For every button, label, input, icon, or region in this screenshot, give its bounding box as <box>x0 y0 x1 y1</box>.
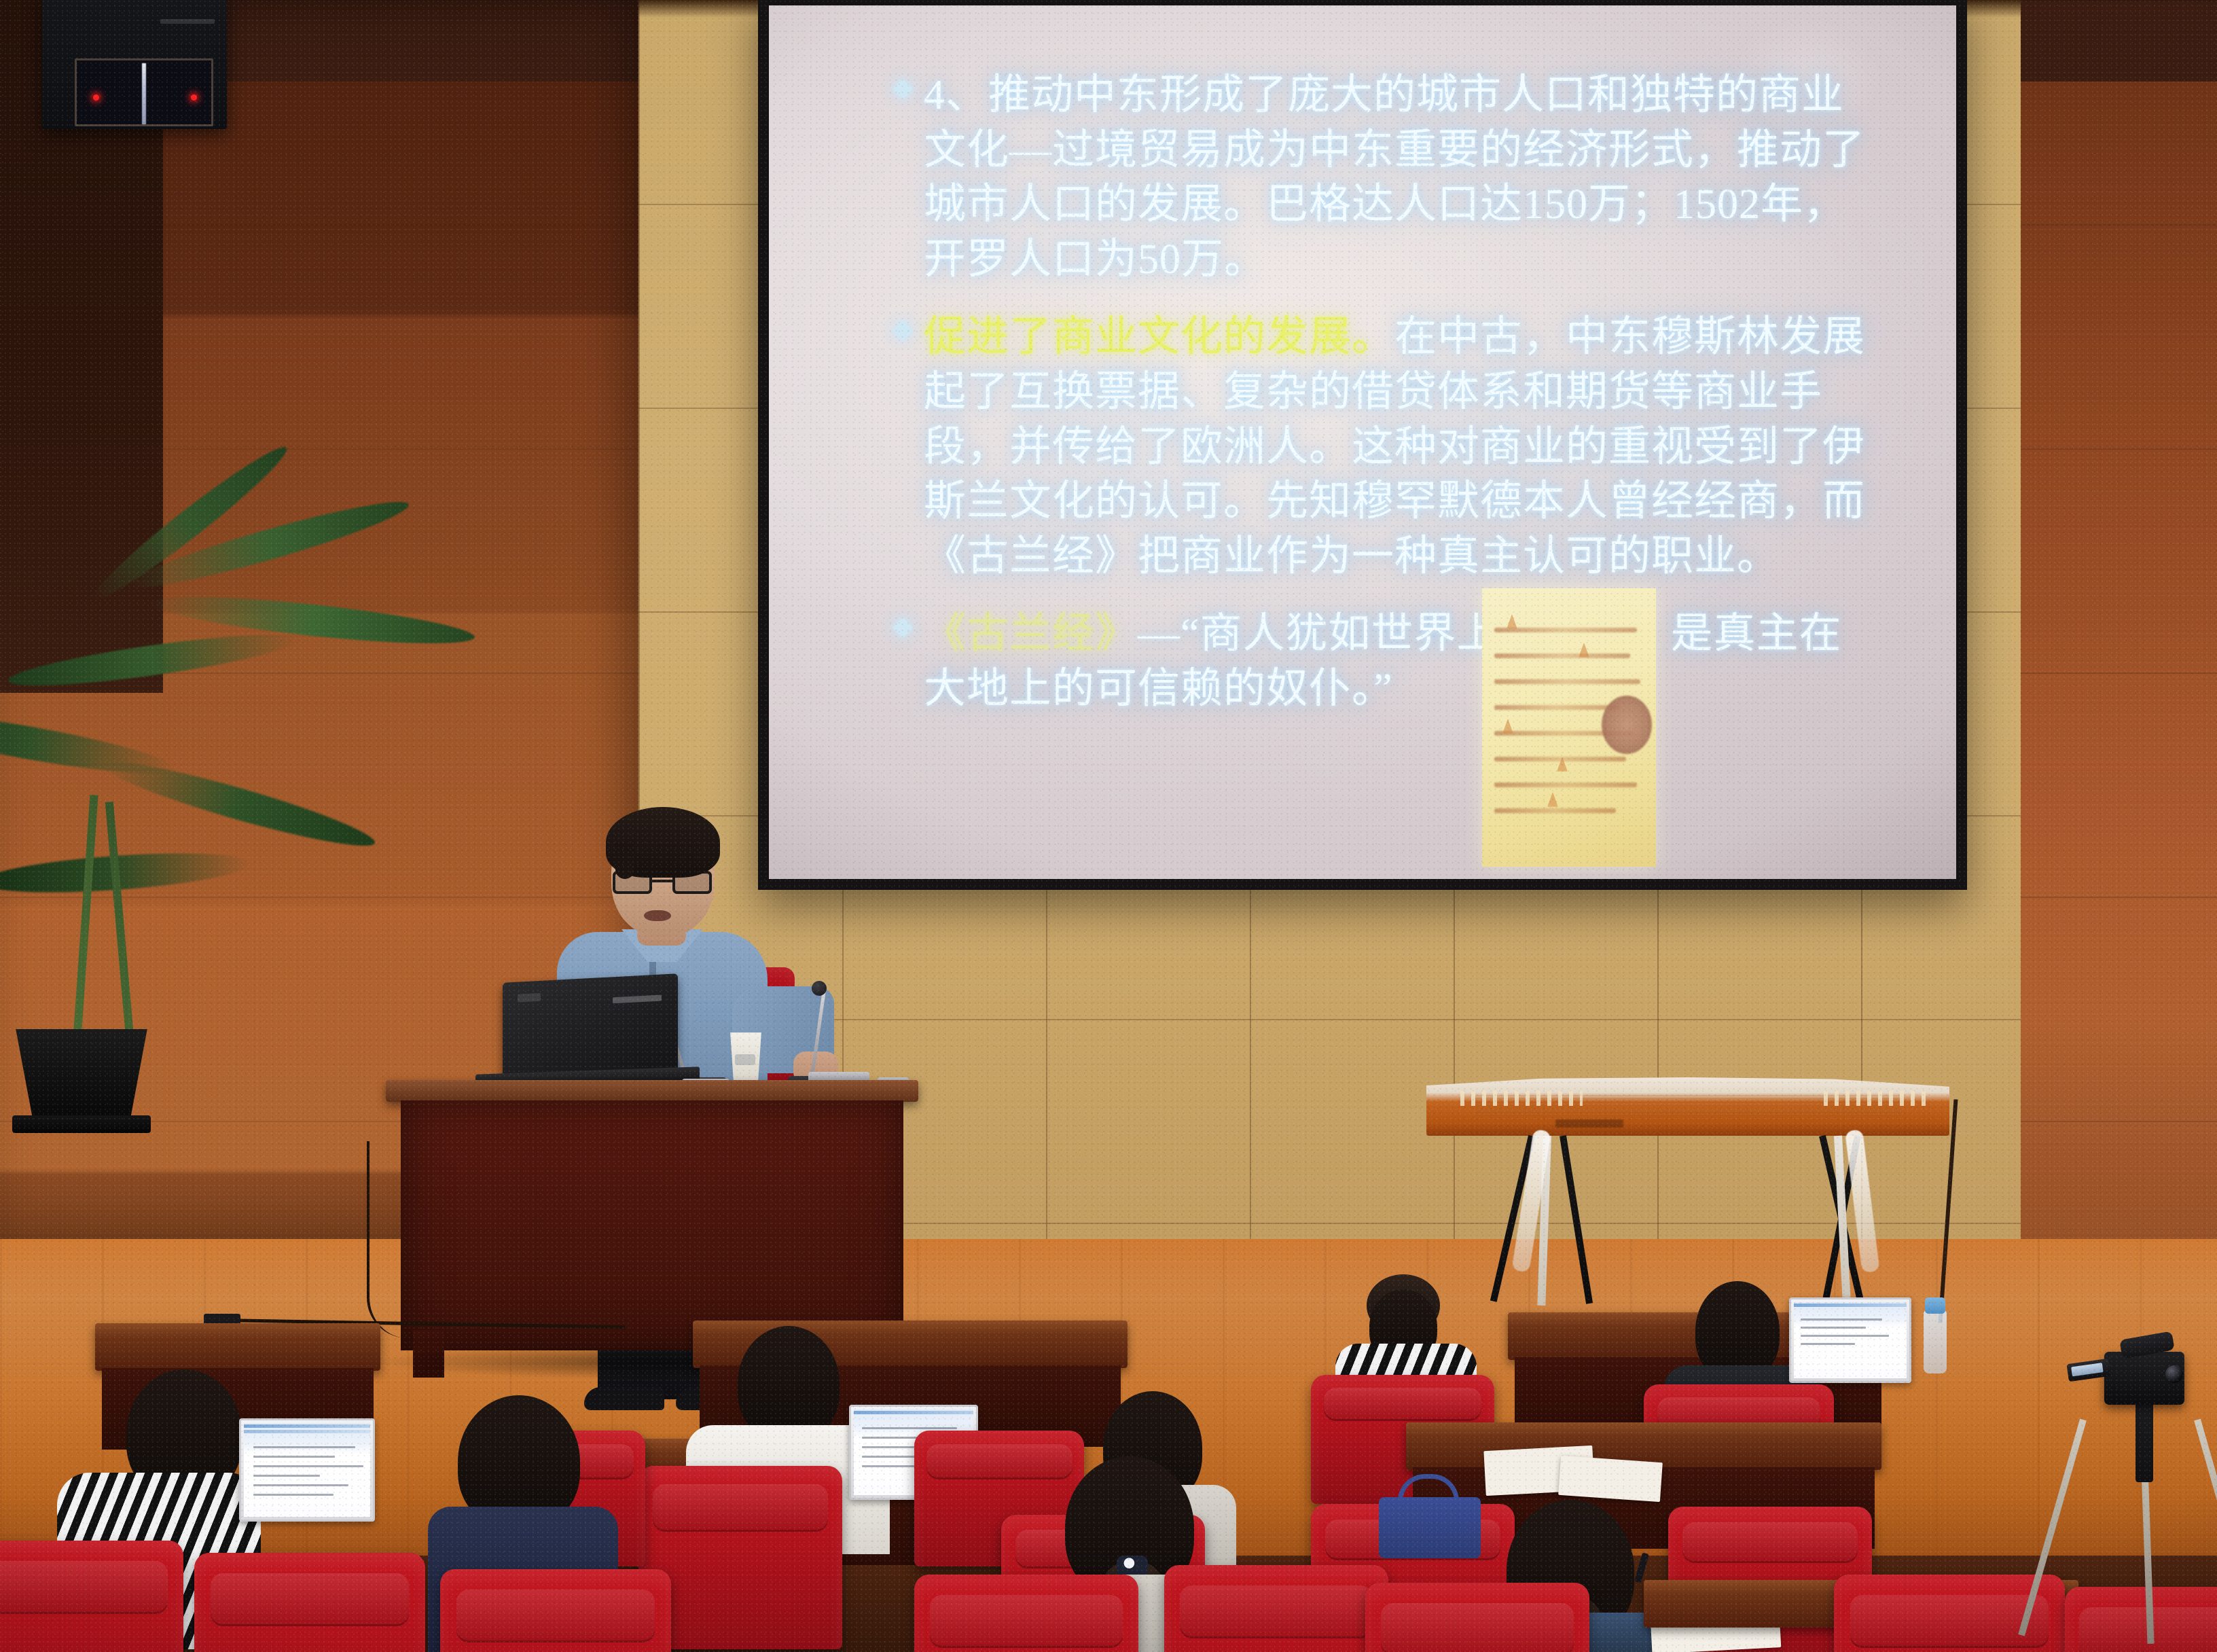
audience-chair <box>194 1553 425 1652</box>
attendee-laptop[interactable] <box>239 1418 375 1522</box>
lecturer-mouth <box>644 910 671 921</box>
attendee-head <box>738 1326 840 1441</box>
laptop-brand-mark <box>613 994 662 1003</box>
laptop-logo-icon <box>518 993 541 1003</box>
guzheng-body <box>1426 1077 1949 1136</box>
slide-bullet: 促进了商业文化的发展。在中古，中东穆斯林发展起了互换票据、复杂的借贷体系和期货等… <box>895 310 1881 583</box>
blue-handbag <box>1379 1497 1481 1558</box>
attendee-laptop[interactable] <box>1789 1297 1911 1383</box>
palm-stem <box>105 802 134 1039</box>
laptop-screen <box>244 1423 370 1517</box>
plant-pot-base <box>12 1115 151 1133</box>
palm-frond <box>96 749 379 858</box>
slide-bullet-text: 促进了商业文化的发展。在中古，中东穆斯林发展起了互换票据、复杂的借贷体系和期货等… <box>924 310 1881 583</box>
lecture-hall-scene: 4、推动中东形成了庞大的城市人口和独特的商业文化—过境贸易成为中东重要的经济形式… <box>0 0 2217 1652</box>
audience-chair <box>914 1575 1138 1652</box>
audience-chair <box>1365 1583 1589 1652</box>
slide-content: 4、推动中东形成了庞大的城市人口和独特的商业文化—过境贸易成为中东重要的经济形式… <box>895 68 1881 740</box>
audience-chair <box>1164 1565 1388 1652</box>
bullet-diamond-icon <box>892 78 913 99</box>
right-wall-wood-panel <box>2021 0 2217 1331</box>
speaker-led-icon <box>191 94 197 101</box>
projection-screen: 4、推动中东形成了庞大的城市人口和独特的商业文化—过境贸易成为中东重要的经济形式… <box>758 0 1967 890</box>
lecturer-hair <box>606 807 720 878</box>
speaker-brand-mark <box>160 19 215 24</box>
tripod-leg <box>2194 1419 2217 1636</box>
bullet-diamond-icon <box>892 617 913 639</box>
podium-top-surface <box>386 1080 918 1102</box>
speaker-grille <box>75 58 213 126</box>
palm-frond <box>6 625 300 695</box>
guzheng-stand-leg <box>1560 1135 1593 1304</box>
slide-bullet-highlight: 《古兰经》 <box>924 611 1138 657</box>
guzheng-bridges <box>1460 1091 1583 1106</box>
slide-bullet-text: 4、推动中东形成了庞大的城市人口和独特的商业文化—过境贸易成为中东重要的经济形式… <box>924 68 1881 287</box>
guzheng-instrument <box>1426 1065 1949 1337</box>
slide-bullet-text: 《古兰经》—“商人犹如世界上的信使，是真主在大地上的可信赖的奴仆。” <box>924 607 1881 716</box>
guzheng-bridges <box>1824 1091 1926 1106</box>
laptop-screen <box>1794 1302 1907 1378</box>
projection-screen-surface: 4、推动中东形成了庞大的城市人口和独特的商业文化—过境贸易成为中东重要的经济形式… <box>769 5 1956 879</box>
ceiling-speaker <box>42 0 227 129</box>
presenter-laptop[interactable] <box>503 973 678 1079</box>
slide-bullet-body: 4、推动中东形成了庞大的城市人口和独特的商业文化—过境贸易成为中东重要的经济形式… <box>924 72 1865 283</box>
quran-manuscript-image <box>1482 588 1656 867</box>
speaker-slit <box>142 63 146 126</box>
video-camera-on-tripod <box>2065 1333 2217 1652</box>
paper-cup-logo <box>735 1054 755 1065</box>
camera-lens-icon <box>2165 1365 2183 1383</box>
palm-stem <box>73 795 98 1039</box>
slide-bullet: 《古兰经》—“商人犹如世界上的信使，是真主在大地上的可信赖的奴仆。” <box>895 607 1881 716</box>
water-bottle-cap <box>1925 1297 1945 1314</box>
audience-chair <box>440 1569 671 1652</box>
pen-icon <box>1634 1552 1649 1583</box>
microphone-head-icon <box>812 981 827 996</box>
guzheng-label <box>1555 1119 1623 1128</box>
palm-frond <box>0 846 252 899</box>
manuscript-medallion-icon <box>1602 696 1652 754</box>
audience-area <box>0 1303 2217 1652</box>
slide-bullet: 4、推动中东形成了庞大的城市人口和独特的商业文化—过境贸易成为中东重要的经济形式… <box>895 68 1881 287</box>
audience-chair <box>0 1541 183 1652</box>
speaker-led-icon <box>93 94 99 101</box>
tripod-column <box>2135 1401 2153 1482</box>
bullet-diamond-icon <box>892 321 913 342</box>
audience-desk <box>95 1323 380 1371</box>
paper-notes <box>1558 1456 1663 1502</box>
plant-pot <box>7 1029 156 1124</box>
slide-bullet-highlight: 促进了商业文化的发展。 <box>924 314 1394 360</box>
water-bottle <box>1924 1310 1947 1373</box>
